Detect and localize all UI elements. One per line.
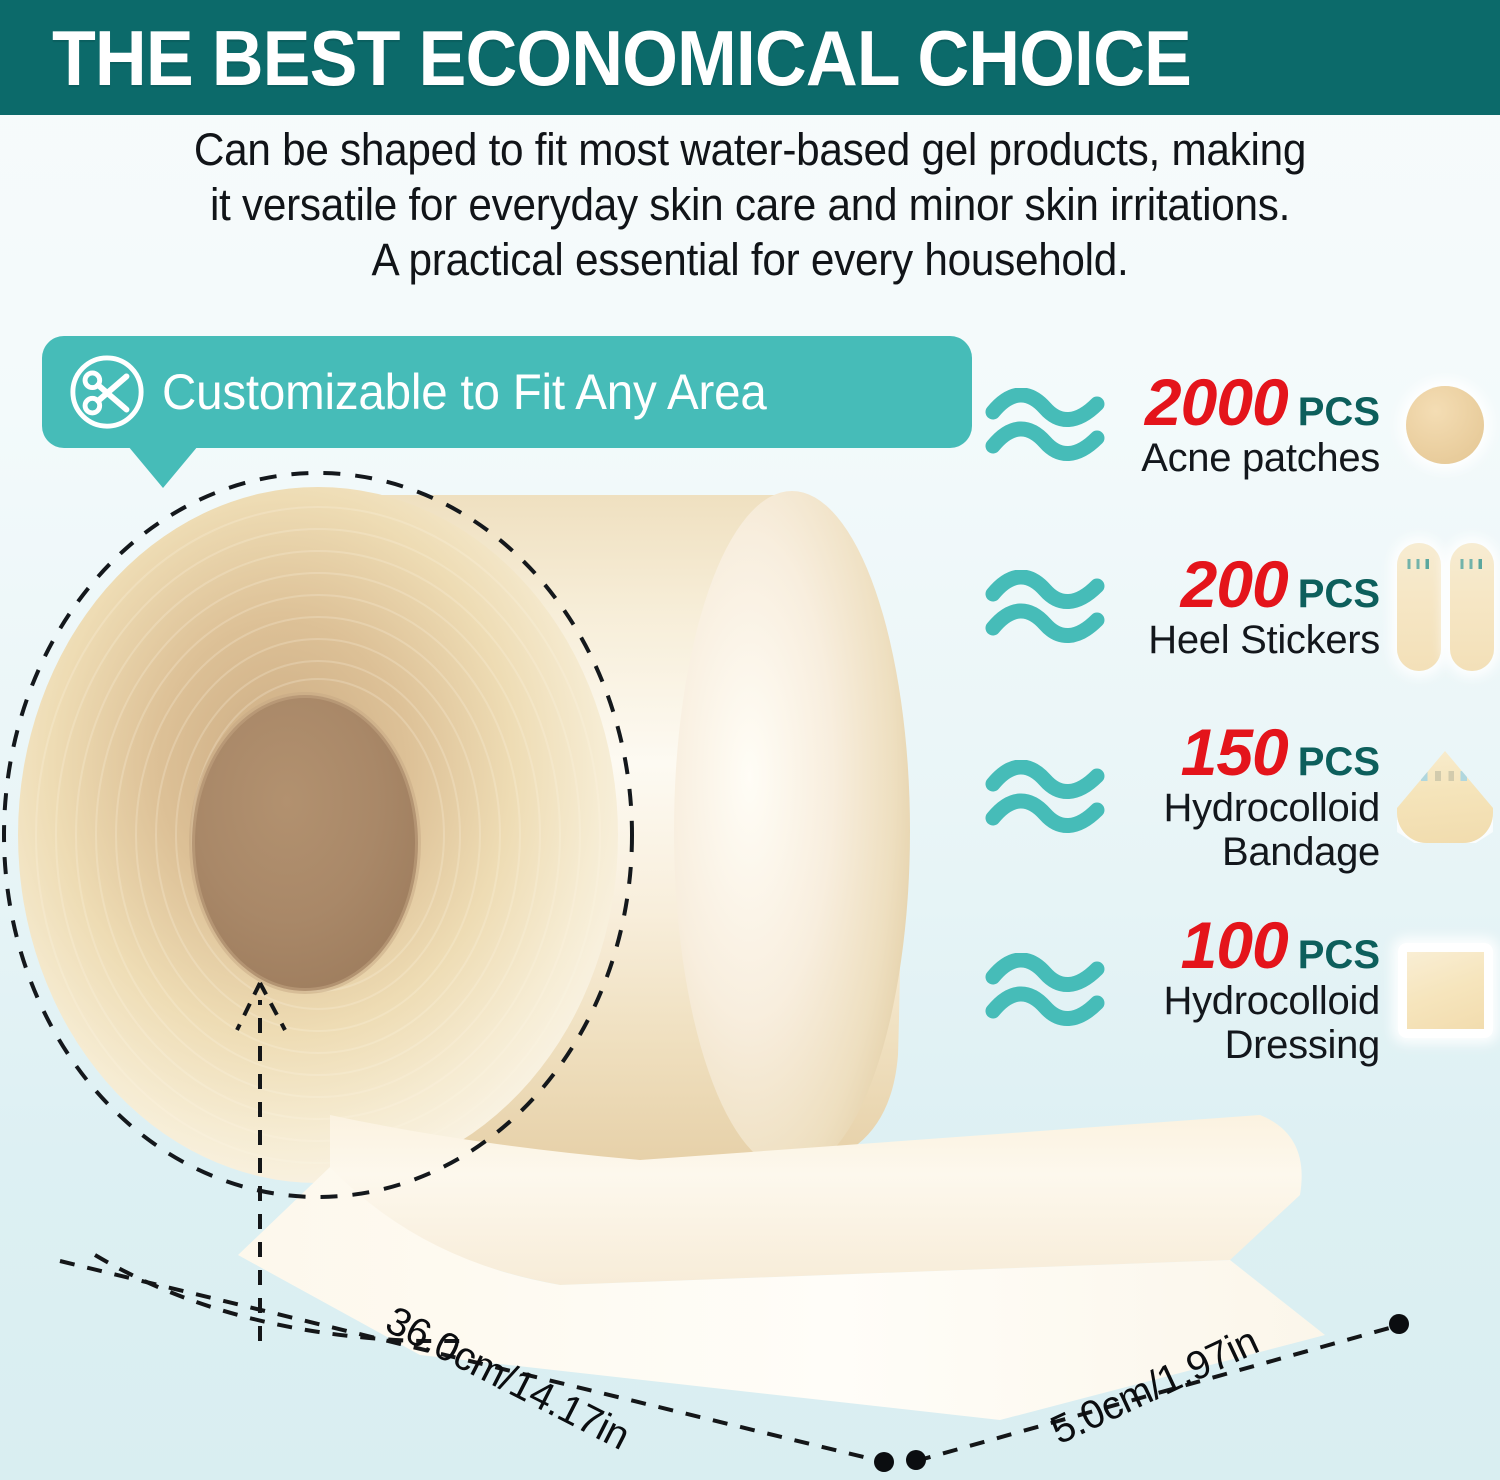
dim-dot-mid <box>906 1450 926 1470</box>
roll-right-cap <box>674 491 910 1171</box>
yield-count: 100 <box>1181 913 1288 977</box>
yield-text: 2000 PCS Acne patches <box>1109 370 1390 480</box>
hydrocolloid-bandage-thumb <box>1390 727 1500 867</box>
yield-count: 150 <box>1181 720 1288 784</box>
yield-unit: PCS <box>1298 742 1380 782</box>
yield-item-acne-patches: 2000 PCS Acne patches <box>985 335 1500 515</box>
subtitle-line-1: Can be shaped to fit most water-based ge… <box>45 122 1455 177</box>
dim-dot-right <box>1389 1314 1409 1334</box>
yield-unit: PCS <box>1298 392 1380 432</box>
infographic-canvas: THE BEST ECONOMICAL CHOICE Can be shaped… <box>0 0 1500 1480</box>
yield-unit: PCS <box>1298 574 1380 614</box>
yield-count: 200 <box>1181 552 1288 616</box>
callout-label: Customizable to Fit Any Area <box>162 367 767 417</box>
subtitle-block: Can be shaped to fit most water-based ge… <box>45 122 1455 287</box>
subtitle-line-3: A practical essential for every househol… <box>45 232 1455 287</box>
scissors-icon <box>68 353 146 431</box>
yield-item-hydrocolloid-bandage: 150 PCS Hydrocolloid Bandage <box>985 707 1500 887</box>
approx-wave-icon <box>985 953 1105 1027</box>
yield-text: 100 PCS Hydrocolloid Dressing <box>1109 913 1390 1067</box>
heel-sticker-thumb <box>1390 537 1500 677</box>
yield-item-hydrocolloid-dressing: 100 PCS Hydrocolloid Dressing <box>985 900 1500 1080</box>
yield-item-heel-stickers: 200 PCS Heel Stickers <box>985 517 1500 697</box>
header-banner: THE BEST ECONOMICAL CHOICE <box>0 0 1500 115</box>
yield-label: Acne patches <box>1141 436 1380 480</box>
approx-wave-icon <box>985 388 1105 462</box>
round-patch-thumb <box>1390 355 1500 495</box>
yield-count: 2000 <box>1145 370 1288 434</box>
yield-text: 200 PCS Heel Stickers <box>1109 552 1390 662</box>
callout-tail <box>128 446 198 488</box>
yield-unit: PCS <box>1298 935 1380 975</box>
subtitle-line-2: it versatile for everyday skin care and … <box>45 177 1455 232</box>
dim-dot-left <box>874 1452 894 1472</box>
yield-label: Hydrocolloid Bandage <box>1164 786 1381 874</box>
page-title: THE BEST ECONOMICAL CHOICE <box>52 19 1191 97</box>
yield-label: Hydrocolloid Dressing <box>1164 979 1381 1067</box>
yield-text: 150 PCS Hydrocolloid Bandage <box>1109 720 1390 874</box>
yield-label: Heel Stickers <box>1148 618 1380 662</box>
customizable-callout[interactable]: Customizable to Fit Any Area <box>42 336 972 448</box>
hydrocolloid-dressing-thumb <box>1390 920 1500 1060</box>
approx-wave-icon <box>985 760 1105 834</box>
approx-wave-icon <box>985 570 1105 644</box>
